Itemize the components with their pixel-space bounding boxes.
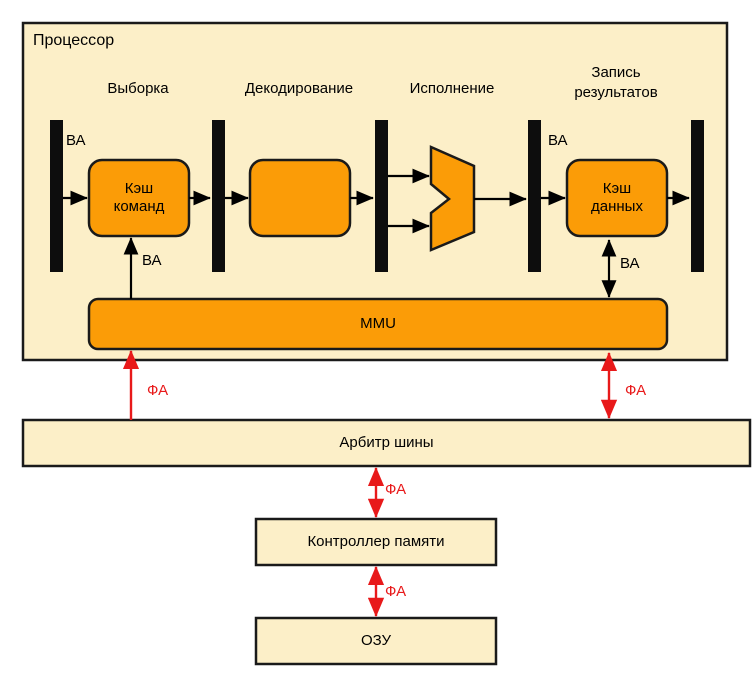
mmu-box (89, 299, 667, 349)
bus-arbiter-box (23, 420, 750, 466)
pipeline-register-bar-1 (50, 120, 63, 272)
fa-mmu-right-to-arbiter: ФА (625, 382, 646, 399)
va-icache-to-mmu: ВА (142, 252, 162, 269)
instruction-cache-box (89, 160, 189, 236)
fa-arbiter-to-memctrl: ФА (385, 481, 406, 498)
stage-label-writeback-line1: Запись (574, 63, 657, 83)
memory-controller-box (256, 519, 496, 565)
stage-label-writeback-line2: результатов (574, 83, 657, 103)
data-cache-box (567, 160, 667, 236)
ram-box (256, 618, 496, 664)
fa-mmu-left-to-arbiter: ФА (147, 382, 168, 399)
va-fetch-stage: ВА (66, 132, 86, 149)
diagram-canvas: Процессор Выборка Декодирование Исполнен… (0, 0, 753, 689)
fa-memctrl-to-ram: ФА (385, 583, 406, 600)
stage-label-fetch: Выборка (107, 80, 168, 97)
pipeline-register-bar-3 (375, 120, 388, 272)
stage-label-writeback: Запись результатов (574, 63, 657, 103)
processor-title: Процессор (33, 32, 114, 49)
diagram-graphics (0, 0, 753, 689)
decode-unit-box (250, 160, 350, 236)
pipeline-register-bar-5 (691, 120, 704, 272)
va-writeback-stage: ВА (548, 132, 568, 149)
pipeline-register-bar-4 (528, 120, 541, 272)
va-dcache-to-mmu: ВА (620, 255, 640, 272)
stage-label-decode: Декодирование (245, 80, 353, 97)
pipeline-register-bar-2 (212, 120, 225, 272)
stage-label-execute: Исполнение (410, 80, 495, 97)
